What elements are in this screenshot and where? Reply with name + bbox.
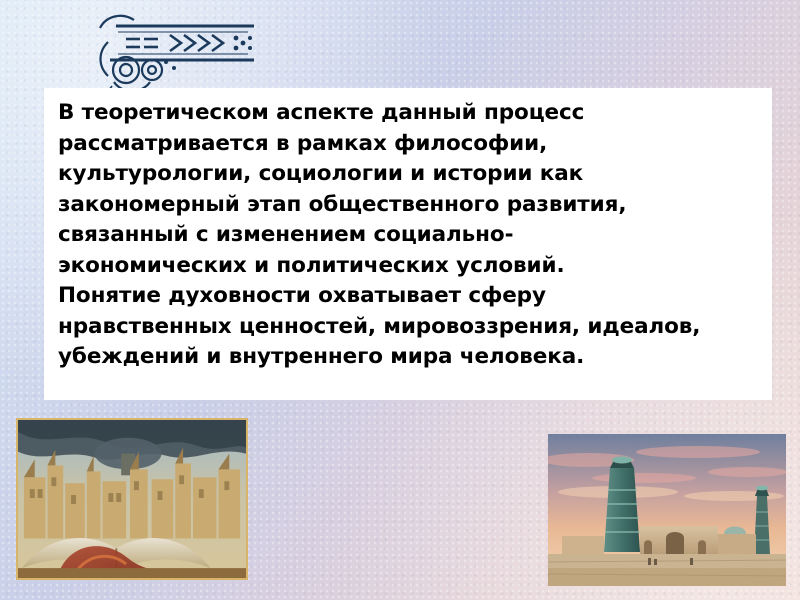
picture-surreal-cityscape (16, 418, 248, 580)
body-line: убеждений и внутреннего мира человека. (58, 342, 758, 373)
body-line: закономерный этап общественного развития… (58, 190, 758, 221)
body-line: экономических и политических условий. (58, 251, 758, 282)
text-panel: В теоретическом аспекте данный процесс р… (44, 88, 772, 400)
picture-khiva-minaret (548, 434, 786, 586)
body-line: нравственных ценностей, мировоззрения, и… (58, 312, 758, 343)
slide-canvas: В теоретическом аспекте данный процесс р… (0, 0, 800, 600)
body-line: Понятие духовности охватывает сферу (58, 281, 758, 312)
body-line: рассматривается в рамках философии, (58, 129, 758, 160)
body-line: В теоретическом аспекте данный процесс (58, 98, 758, 129)
body-line: культурологии, социологии и истории как (58, 159, 758, 190)
body-line: связанный с изменением социально- (58, 220, 758, 251)
